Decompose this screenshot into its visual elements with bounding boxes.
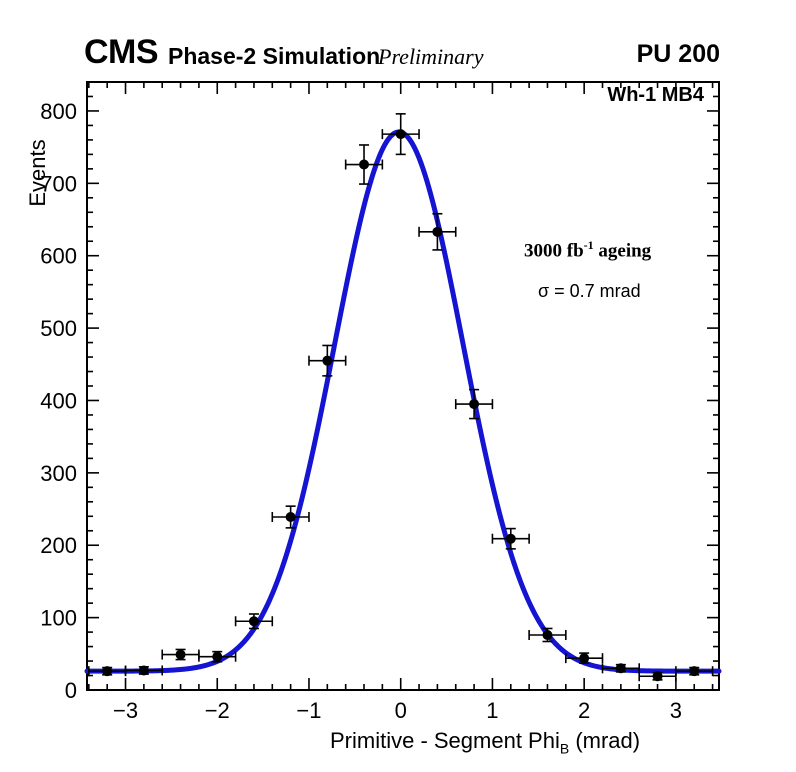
- y-axis-title: Events: [25, 113, 51, 233]
- marker: [579, 653, 589, 663]
- axes-layer: [87, 82, 719, 690]
- marker: [616, 663, 626, 673]
- x-axis-title-suffix: (mrad): [569, 728, 640, 753]
- marker: [506, 534, 516, 544]
- cms-logo: CMS: [84, 36, 158, 68]
- y-tick-label: 400: [40, 388, 77, 413]
- fit-curve-layer: [87, 132, 719, 671]
- marker: [359, 160, 369, 170]
- y-tick-label: 0: [65, 678, 77, 703]
- fit-curve: [87, 132, 719, 671]
- luminosity-annotation: 3000 fb-1 ageing: [524, 238, 651, 262]
- marker: [249, 616, 259, 626]
- y-tick-label: 200: [40, 533, 77, 558]
- data-point: [676, 666, 713, 676]
- marker: [689, 666, 699, 676]
- x-axis-title-prefix: Primitive - Segment Phi: [330, 728, 560, 753]
- sigma-annotation: σ = 0.7 mrad: [538, 281, 641, 302]
- x-tick-label: 1: [486, 698, 498, 723]
- x-tick-label: 3: [670, 698, 682, 723]
- data-point: [126, 665, 163, 675]
- data-point: [492, 529, 529, 549]
- y-tick-label: 500: [40, 316, 77, 341]
- x-tick-label: −1: [296, 698, 321, 723]
- marker: [139, 665, 149, 675]
- cms-subtitle: Phase-2 Simulation: [168, 43, 380, 69]
- region-annotation: Wh-1 MB4: [607, 84, 704, 107]
- x-tick-label: −2: [205, 698, 230, 723]
- cms-pileup-label: PU 200: [637, 40, 720, 68]
- marker: [286, 512, 296, 522]
- y-tick-label: 600: [40, 244, 77, 269]
- marker: [432, 227, 442, 237]
- x-tick-label: −3: [113, 698, 138, 723]
- data-point: [419, 214, 456, 250]
- plot-canvas: CMS Phase-2 Simulation Preliminary PU 20…: [0, 0, 796, 772]
- data-point: [309, 345, 346, 375]
- marker: [653, 671, 663, 681]
- plot-frame: [87, 82, 719, 690]
- x-axis-title: Primitive - Segment PhiB (mrad): [330, 728, 640, 756]
- marker: [322, 356, 332, 366]
- y-tick-label: 300: [40, 461, 77, 486]
- luminosity-suffix: ageing: [594, 240, 652, 261]
- data-point: [272, 506, 309, 528]
- x-tick-label: 2: [578, 698, 590, 723]
- y-tick-label: 100: [40, 606, 77, 631]
- cms-status-preliminary: Preliminary: [378, 44, 484, 70]
- luminosity-value: 3000 fb: [524, 240, 584, 261]
- marker: [469, 399, 479, 409]
- data-points-layer: [89, 114, 713, 681]
- data-point: [346, 145, 383, 184]
- data-point: [456, 390, 493, 419]
- marker: [102, 666, 112, 676]
- cms-header: CMS Phase-2 Simulation Preliminary PU 20…: [0, 38, 796, 70]
- tick-labels-layer: −3−2−101230100200300400500600700800: [40, 99, 682, 723]
- x-axis-title-subscript: B: [560, 740, 569, 756]
- data-point: [236, 614, 273, 628]
- marker: [176, 650, 186, 660]
- marker: [396, 129, 406, 139]
- marker: [212, 652, 222, 662]
- chart-svg: −3−2−101230100200300400500600700800: [0, 0, 796, 772]
- data-point: [162, 649, 199, 659]
- luminosity-exponent: -1: [584, 238, 594, 252]
- x-tick-label: 0: [395, 698, 407, 723]
- data-point: [89, 666, 126, 676]
- data-point: [529, 628, 566, 641]
- marker: [542, 630, 552, 640]
